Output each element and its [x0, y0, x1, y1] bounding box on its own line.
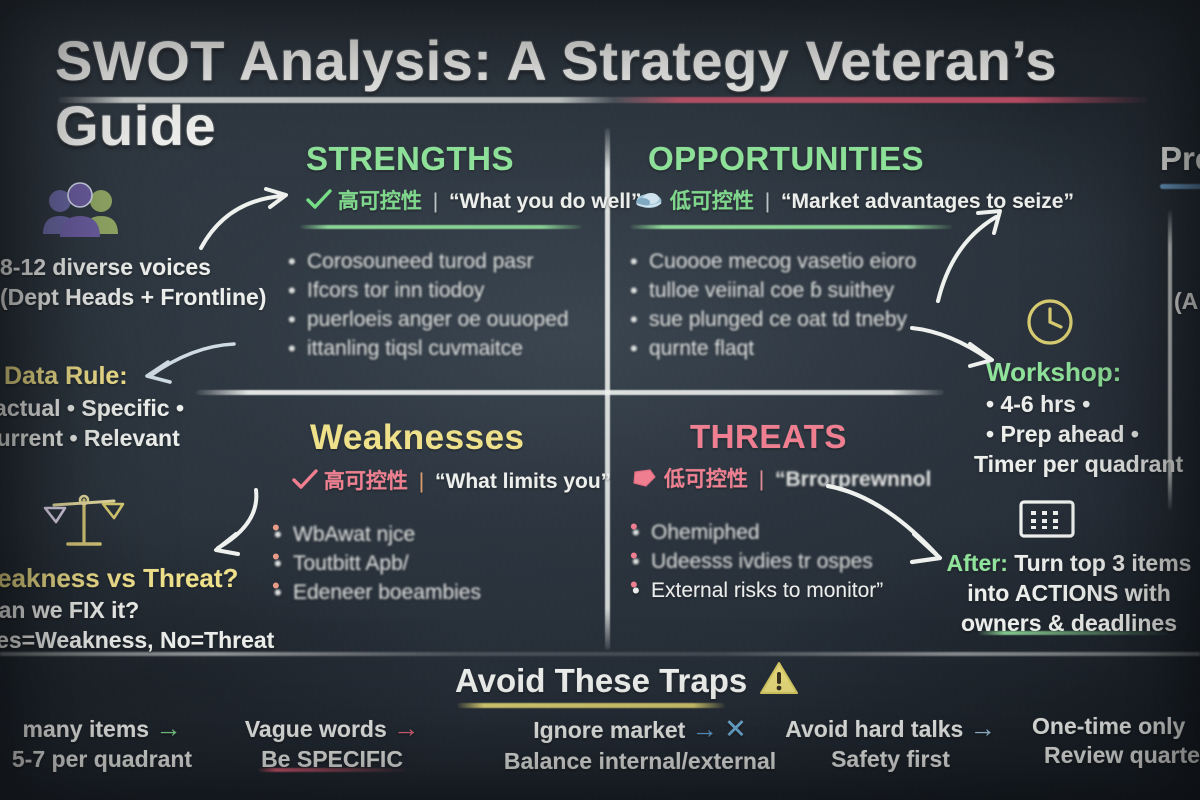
gem-icon [630, 467, 658, 495]
list-item: External risks to monitor” [628, 577, 931, 606]
quadrant-strengths: STRENGTHS 高可控性 | “What you do well” Coro… [306, 140, 642, 364]
trap-item-2: Ignore market → ✕ Balance internal/exter… [470, 712, 810, 776]
arrow-opportunities-up [930, 205, 1010, 310]
trap-item-4: One-time only Review quarte [1032, 712, 1200, 771]
trap-item-1: Vague words → Be SPECIFIC [232, 712, 432, 775]
list-item: WbAwat njce [270, 521, 611, 550]
list-item: ittanling tiqsl cuvmaitce [284, 335, 642, 364]
strengths-underline [300, 225, 582, 229]
opportunities-title: OPPORTUNITIES [648, 140, 1074, 178]
threats-bullet-dots: ••• [630, 512, 638, 599]
strengths-separator: | [433, 190, 438, 213]
trap-detail: Safety first [778, 745, 1003, 774]
strengths-quote: “What you do well” [449, 190, 642, 213]
trap-label: Vague words [245, 716, 387, 742]
weaknesses-separator: | [419, 470, 424, 493]
workshop-line3: Timer per quadrant [974, 450, 1183, 480]
trap-detail: 5-7 per quadrant [0, 745, 222, 774]
list-item: Toutbitt Apb/ [270, 550, 611, 579]
cross-mark-icon: ✕ [724, 714, 747, 744]
trap-item-3: Avoid hard talks → Safety first [778, 712, 1003, 775]
scales-line2: Yes=Weakness, No=Threat [0, 626, 274, 656]
arrow-strengths-to-data-rule [130, 338, 240, 399]
workshop-heading: Workshop: [986, 357, 1183, 388]
opportunities-control-label: 低可控性 [670, 190, 754, 213]
people-line2: (Dept Heads + Frontline) [0, 283, 266, 313]
workshop-line2: • Prep ahead • [986, 420, 1183, 450]
strengths-control-label: 高可控性 [338, 190, 422, 213]
traps-header: Avoid These Traps [455, 660, 799, 708]
arrow-to-workshop [908, 322, 998, 375]
scales-line1: Can we FIX it? [0, 596, 274, 626]
arrow-threats-to-after [822, 478, 950, 579]
trap-label: Avoid hard talks [785, 716, 963, 742]
arrow-people-to-strengths [196, 182, 301, 259]
weaknesses-control-label: 高可控性 [324, 470, 408, 493]
pro-column-divider [1168, 210, 1172, 510]
threats-title: THREATS [690, 418, 931, 456]
trap-detail: Review quarte [1044, 741, 1200, 770]
after-underline [978, 631, 1168, 635]
trap-label: One-time only [1032, 713, 1185, 739]
note-after: After: Turn top 3 items into ACTIONS wit… [952, 498, 1194, 639]
weaknesses-bullet-list: WbAwat njce Toutbitt Apb/ Edeneer boeamb… [270, 521, 611, 608]
traps-title: Avoid These Traps [455, 662, 747, 700]
traps-underline [457, 703, 725, 708]
quadrant-weaknesses: Weaknesses 高可控性 | “What limits you” WbAw… [310, 418, 611, 608]
warning-icon [759, 660, 799, 701]
title-underline [58, 97, 1148, 103]
trap-1-underline [258, 768, 406, 772]
pro-sub: (A [1174, 287, 1200, 317]
note-pro-column: Pro (A [1160, 140, 1200, 317]
after-line1: Turn top 3 items [1014, 550, 1191, 576]
arrow-right-icon: → [970, 713, 996, 743]
content-layer: SWOT Analysis: A Strategy Veteran’s Guid… [0, 0, 1200, 800]
workshop-line1: • 4-6 hrs • [986, 390, 1183, 420]
pro-heading: Pro [1160, 140, 1200, 178]
note-workshop: Workshop: • 4-6 hrs • • Prep ahead • Tim… [968, 296, 1183, 480]
trap-label: many items [23, 716, 150, 742]
threats-separator: | [759, 468, 764, 491]
opportunities-quote: “Market advantages to seize” [781, 190, 1074, 213]
arrow-right-icon: → [393, 713, 419, 743]
list-item: Edeneer boeambies [270, 579, 611, 608]
strengths-title: STRENGTHS [306, 140, 642, 178]
strengths-bullet-list: Corosouneed turod pasr Ifcors tor inn ti… [284, 248, 642, 364]
cloud-icon [634, 189, 664, 217]
trap-item-0: many items → 5-7 per quadrant [0, 712, 222, 775]
check-icon [306, 189, 332, 217]
arrow-weaknesses-to-scales [168, 486, 264, 563]
trap-label: Ignore market [533, 717, 685, 743]
list-item: Ifcors tor inn tiodoy [284, 277, 642, 306]
weaknesses-title: Weaknesses [310, 418, 611, 458]
data-rule-line2: Current • Relevant [0, 424, 184, 454]
opportunities-underline [630, 225, 952, 229]
threats-control-label: 低可控性 [664, 468, 748, 491]
trap-detail: Balance internal/external [470, 747, 810, 776]
after-line2: into ACTIONS with [944, 579, 1194, 609]
arrow-right-icon: → [155, 713, 181, 743]
quadrant-horizontal-divider [196, 390, 944, 395]
list-item: Corosouneed turod pasr [284, 248, 642, 277]
list-item: puerloeis anger oe ouuoped [284, 306, 642, 335]
weaknesses-quote: “What limits you” [435, 470, 611, 493]
pro-underline [1160, 184, 1200, 189]
scales-heading: Weakness vs Threat? [0, 563, 274, 594]
check-icon [292, 469, 318, 497]
arrow-right-icon: → [692, 714, 718, 744]
after-heading: After: [947, 550, 1008, 576]
opportunities-separator: | [765, 190, 770, 213]
